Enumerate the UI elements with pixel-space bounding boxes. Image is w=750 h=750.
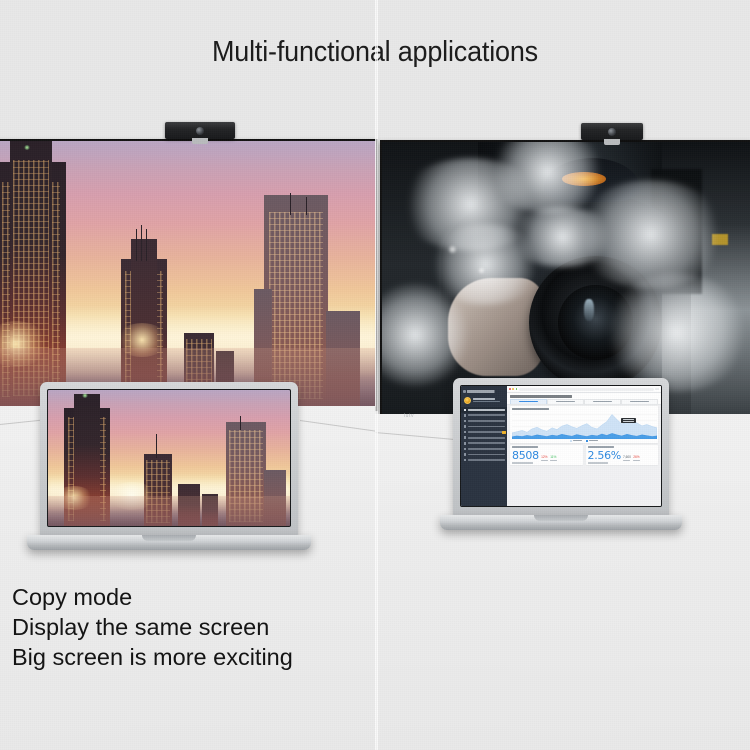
- area-chart: [512, 411, 657, 439]
- stat-value: 2.56%: [588, 450, 621, 461]
- sunset-cityscape-image: [0, 141, 376, 407]
- lens-reflection: [584, 299, 594, 321]
- sidebar-user[interactable]: [461, 395, 507, 405]
- antenna: [136, 229, 137, 261]
- tab-3[interactable]: [584, 399, 621, 404]
- legend-label: [589, 440, 598, 441]
- caption-copy-mode: Copy mode Display the same screen Big sc…: [12, 582, 293, 672]
- user-role: [473, 401, 501, 403]
- webcam-icon: [165, 122, 235, 139]
- antenna-light: [82, 393, 88, 398]
- sidebar-nav: [461, 407, 507, 463]
- sidebar-item-10[interactable]: [461, 457, 507, 463]
- monitor-screen-right: [380, 140, 750, 418]
- sidebar-item-label: [468, 459, 505, 461]
- delta-value: 12%: [541, 456, 547, 459]
- brand-name: [467, 390, 505, 392]
- stat-card-total-count: 8508 12% 11%: [510, 445, 583, 465]
- antenna: [290, 193, 291, 215]
- minimize-icon[interactable]: [512, 388, 514, 390]
- stat-row: 8508 12% 11%: [512, 450, 581, 461]
- delta-label: [633, 460, 640, 461]
- stat-delta: 7,600: [623, 456, 631, 461]
- tab-1[interactable]: [510, 399, 547, 404]
- ground-haze: [48, 496, 290, 526]
- stat-label: [588, 446, 614, 448]
- sidebar-item-label: [468, 409, 505, 411]
- sidebar-item-label: [468, 454, 505, 456]
- stat-cards: 8508 12% 11%: [510, 445, 658, 465]
- caption-line: Big screen is more exciting: [12, 642, 293, 672]
- stat-delta: 12%: [541, 456, 548, 461]
- laptop-right: 8508 12% 11%: [453, 378, 669, 530]
- antenna: [146, 229, 147, 261]
- menu-icon: [464, 431, 467, 434]
- dashboard-main: 8508 12% 11%: [507, 386, 661, 506]
- tab-4[interactable]: [621, 399, 658, 404]
- laptop-lid: [40, 382, 298, 536]
- tab-2[interactable]: [547, 399, 584, 404]
- antenna: [156, 434, 157, 458]
- menu-icon: [464, 459, 467, 462]
- user-name: [473, 398, 496, 400]
- chart-title: [512, 408, 550, 410]
- caption-heading: Copy mode: [12, 582, 293, 612]
- sidebar-item-label: [468, 442, 505, 444]
- bokeh-light: [478, 267, 485, 274]
- tab-label: [519, 401, 539, 403]
- stat-value: 8508: [512, 450, 539, 461]
- webcam-lens-icon: [608, 128, 616, 136]
- address-bar[interactable]: [519, 388, 654, 391]
- page-title-text: [510, 395, 572, 398]
- menu-icon: [464, 425, 467, 428]
- caption-line: Display the same screen: [12, 612, 293, 642]
- stat-deltas: 7,600 26%: [623, 456, 640, 461]
- panel-extended-mode: lutv: [375, 0, 750, 750]
- avatar: [464, 397, 471, 404]
- delta-value: 26%: [633, 456, 639, 459]
- stat-delta: 26%: [633, 456, 640, 461]
- stat-sublabel: [512, 462, 533, 463]
- antenna: [240, 416, 241, 430]
- laptop-screen-left: [47, 389, 291, 527]
- brand-logo-icon: [463, 390, 466, 393]
- dashboard-brand: [461, 388, 507, 395]
- laptop-base: [27, 535, 311, 550]
- sunset-cityscape-image-mirror: [48, 390, 290, 526]
- stat-row: 2.56% 7,600 26%: [588, 450, 657, 461]
- external-monitor-left: [0, 139, 378, 411]
- antenna: [306, 197, 307, 215]
- webcam-clip: [604, 139, 620, 145]
- laptop-screen-right: 8508 12% 11%: [460, 385, 662, 507]
- laptop-notch: [142, 535, 196, 541]
- panel-copy-mode: Copy mode Display the same screen Big sc…: [0, 0, 375, 750]
- user-meta: [473, 398, 505, 403]
- webcam-lens-icon: [196, 127, 204, 135]
- sidebar-item-label: [468, 437, 505, 439]
- stat-card-conversion-rate: 2.56% 7,600 26%: [586, 445, 659, 465]
- tab-label: [593, 401, 613, 403]
- dashboard-tabs: [507, 399, 661, 405]
- menu-icon: [464, 420, 467, 423]
- legend-swatch: [586, 440, 588, 442]
- panel-divider: [375, 0, 378, 750]
- legend-item-1[interactable]: [570, 440, 582, 442]
- chart-card: [510, 406, 658, 443]
- dashboard-sidebar: [461, 386, 507, 506]
- laptop-notch: [534, 515, 588, 521]
- sidebar-item-label: [468, 431, 505, 433]
- analytics-dashboard: 8508 12% 11%: [461, 386, 661, 506]
- stat-delta: 11%: [550, 456, 557, 461]
- menu-icon: [464, 414, 467, 417]
- smoke: [507, 207, 617, 267]
- menu-icon: [464, 436, 467, 439]
- antenna-light: [24, 145, 30, 150]
- toolbar-button[interactable]: [655, 388, 659, 391]
- stat-deltas: 12% 11%: [541, 456, 557, 461]
- tab-label: [556, 401, 576, 403]
- menu-icon: [464, 442, 467, 445]
- delta-value: 11%: [550, 456, 556, 459]
- menu-icon: [464, 453, 467, 456]
- browser-toolbar: [507, 386, 661, 393]
- chart-legend: [512, 440, 657, 442]
- laptop-base: [440, 515, 682, 530]
- delta-label: [541, 460, 548, 461]
- monitor-screen-left: [0, 139, 378, 411]
- delta-label: [623, 460, 630, 461]
- dashboard-icon: [464, 409, 467, 412]
- maximize-icon[interactable]: [516, 388, 518, 390]
- chart-svg: [512, 411, 657, 439]
- external-monitor-right: lutv: [380, 140, 750, 418]
- stat-sublabel: [588, 462, 609, 463]
- tooltip-line: [623, 421, 634, 422]
- legend-swatch: [570, 440, 572, 442]
- webcam-icon: [581, 123, 643, 140]
- laptop-lid: 8508 12% 11%: [453, 378, 669, 516]
- poster-root: Multi-functional applications: [0, 0, 750, 750]
- legend-label: [573, 440, 582, 441]
- sidebar-item-label: [468, 448, 505, 450]
- sidebar-item-label: [468, 420, 505, 422]
- menu-icon: [464, 448, 467, 451]
- tooltip-line: [623, 419, 634, 420]
- stat-label: [512, 446, 538, 448]
- webcam-clip: [192, 138, 208, 144]
- sidebar-item-label: [468, 414, 505, 416]
- sidebar-item-label: [468, 426, 505, 428]
- chart-tooltip: [621, 418, 636, 424]
- photographer-bw-image: [382, 142, 750, 414]
- delta-value: 7,600: [623, 456, 631, 459]
- close-icon[interactable]: [509, 388, 511, 390]
- laptop-left: [40, 382, 298, 550]
- tab-label: [630, 401, 650, 403]
- antenna: [141, 225, 142, 261]
- delta-label: [550, 460, 557, 461]
- monitor-bezel-logo: lutv: [392, 412, 426, 419]
- status-badge: [502, 431, 506, 434]
- legend-item-2[interactable]: [586, 440, 598, 442]
- smoke: [603, 273, 750, 393]
